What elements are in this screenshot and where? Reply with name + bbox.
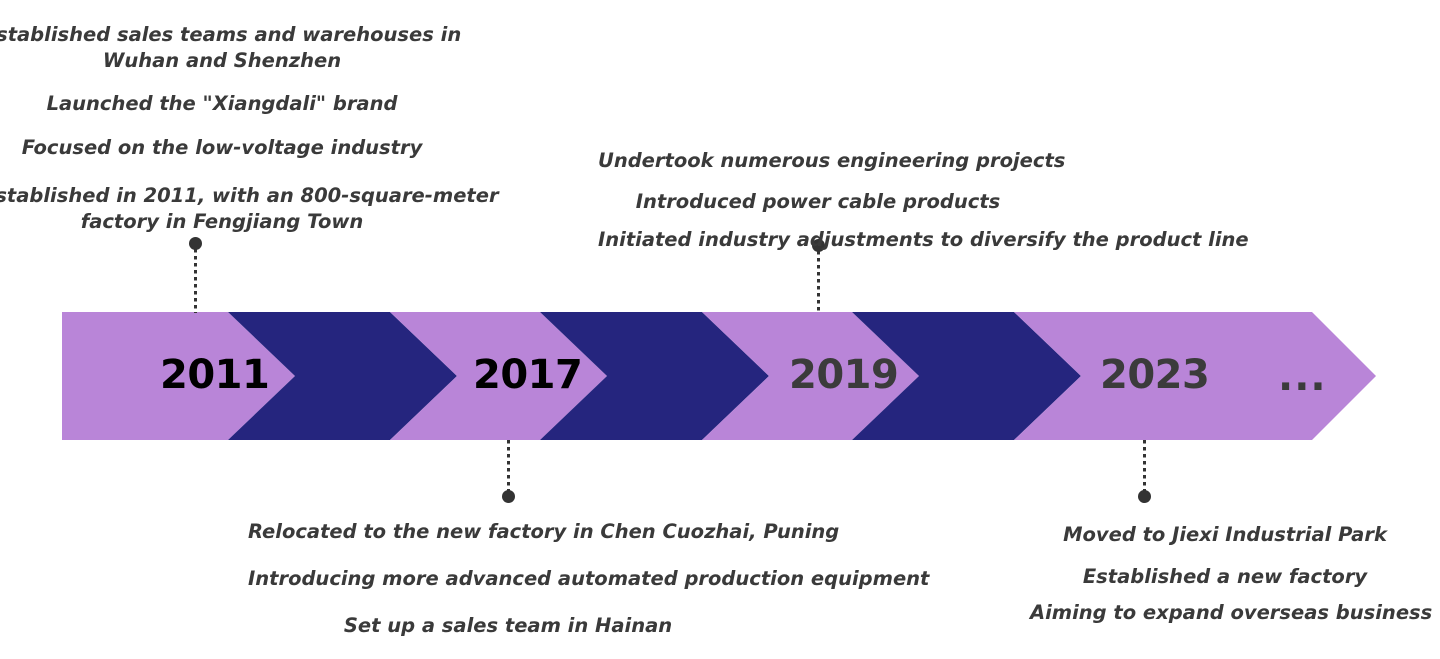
- annotation-spacer: [598, 214, 1038, 227]
- annotation-line: Undertook numerous engineering projects: [598, 148, 1038, 174]
- annotation-line: Focused on the low-voltage industry: [0, 135, 462, 161]
- annotation-line: Established in 2011, with an 800-square-…: [0, 183, 462, 209]
- annotation-line: Set up a sales team in Hainan: [248, 602, 768, 649]
- connector-dot-2023: [1138, 490, 1151, 503]
- annotation-line: Launched the "Xiangdali" brand: [0, 91, 462, 117]
- annotation-line: Aiming to expand overseas business: [1030, 598, 1420, 629]
- annotation-2017: Relocated to the new factory in Chen Cuo…: [248, 508, 768, 650]
- year-label-2017[interactable]: 2017: [473, 355, 582, 395]
- annotation-line: Established a new factory: [1030, 562, 1420, 593]
- connector-dots: [817, 251, 820, 313]
- connector-dots: [194, 249, 197, 313]
- timeline-continuation-ellipsis: ...: [1278, 357, 1327, 397]
- annotation-line: Moved to Jiexi Industrial Park: [1030, 520, 1420, 551]
- annotation-line: Established sales teams and warehouses i…: [0, 22, 462, 48]
- annotation-line: Wuhan and Shenzhen: [0, 48, 462, 74]
- connector-line-2011: [194, 249, 197, 313]
- annotation-line: Initiated industry adjustments to divers…: [598, 227, 1038, 253]
- connector-dot-2011: [189, 237, 202, 250]
- connector-dots: [1143, 440, 1146, 494]
- annotation-spacer: [1030, 551, 1420, 562]
- annotation-line: Introducing more advanced automated prod…: [248, 555, 768, 602]
- connector-line-2017: [507, 440, 510, 494]
- annotation-spacer: [598, 174, 1038, 189]
- timeline-infographic: 2011 2017 2019 2023 ... Established sale…: [0, 0, 1440, 659]
- annotation-spacer: [0, 73, 462, 91]
- annotation-2011: Established sales teams and warehouses i…: [0, 22, 462, 234]
- connector-dots: [507, 440, 510, 494]
- annotation-line: Introduced power cable products: [598, 189, 1038, 215]
- connector-line-2023: [1143, 440, 1146, 494]
- annotation-line: Relocated to the new factory in Chen Cuo…: [248, 508, 768, 555]
- annotation-spacer: [0, 117, 462, 135]
- connector-line-2019: [817, 251, 820, 313]
- year-label-2019[interactable]: 2019: [789, 355, 898, 395]
- connector-dot-2017: [502, 490, 515, 503]
- annotation-2019: Undertook numerous engineering projects …: [598, 148, 1038, 253]
- year-label-2011[interactable]: 2011: [160, 355, 269, 395]
- annotation-spacer: [0, 161, 462, 183]
- annotation-2023: Moved to Jiexi Industrial Park Establish…: [1030, 520, 1420, 628]
- annotation-line: factory in Fengjiang Town: [0, 209, 462, 235]
- year-label-2023[interactable]: 2023: [1100, 355, 1209, 395]
